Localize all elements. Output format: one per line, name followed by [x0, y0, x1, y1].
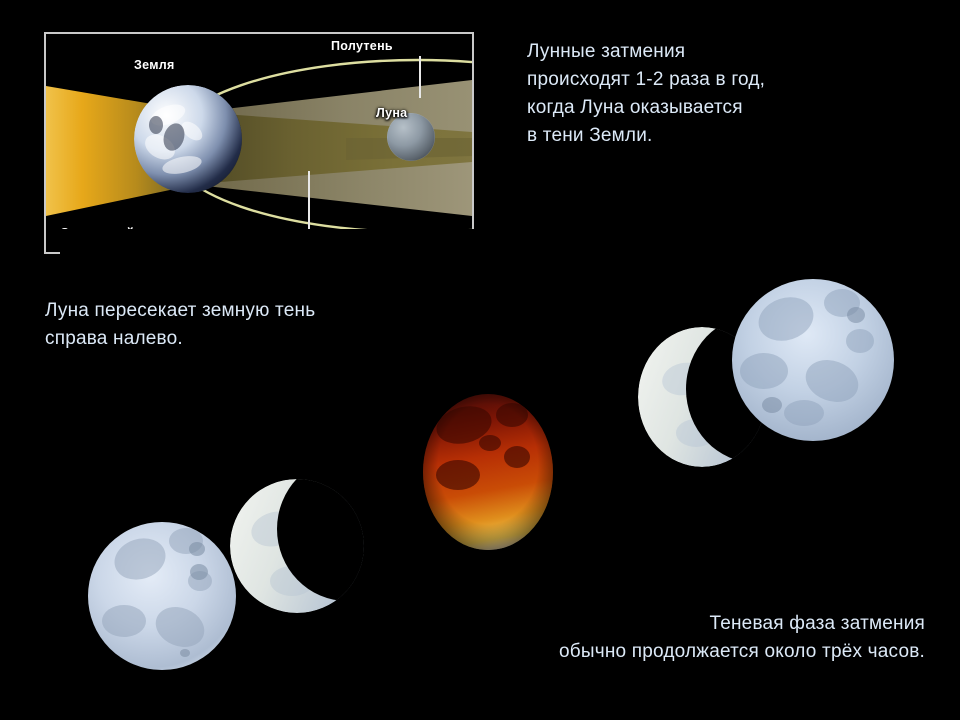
- slide-canvas: Земля Солнечный свет Полутень Луна Тень: [0, 0, 960, 720]
- earth-sphere: [134, 85, 242, 193]
- caption-umbral-phase-duration: Теневая фаза затмения обычно продолжаетс…: [455, 610, 925, 666]
- caption-moon-crosses-shadow: Луна пересекает земную тень справа налев…: [45, 297, 315, 353]
- moon-phase-1-full: [88, 522, 236, 670]
- caption-eclipse-frequency: Лунные затмения происходят 1-2 раза в го…: [527, 38, 765, 150]
- moon-sphere-diagram: [387, 113, 435, 161]
- lunar-eclipse-geometry-diagram: Земля Солнечный свет Полутень Луна Тень: [44, 32, 474, 254]
- penumbra-tick-mark: [419, 56, 421, 98]
- moon-phase-3-totality: [423, 394, 553, 550]
- diagram-artwork: Земля Солнечный свет Полутень Луна Тень: [46, 34, 472, 252]
- moon-phase-5-full: [732, 279, 894, 441]
